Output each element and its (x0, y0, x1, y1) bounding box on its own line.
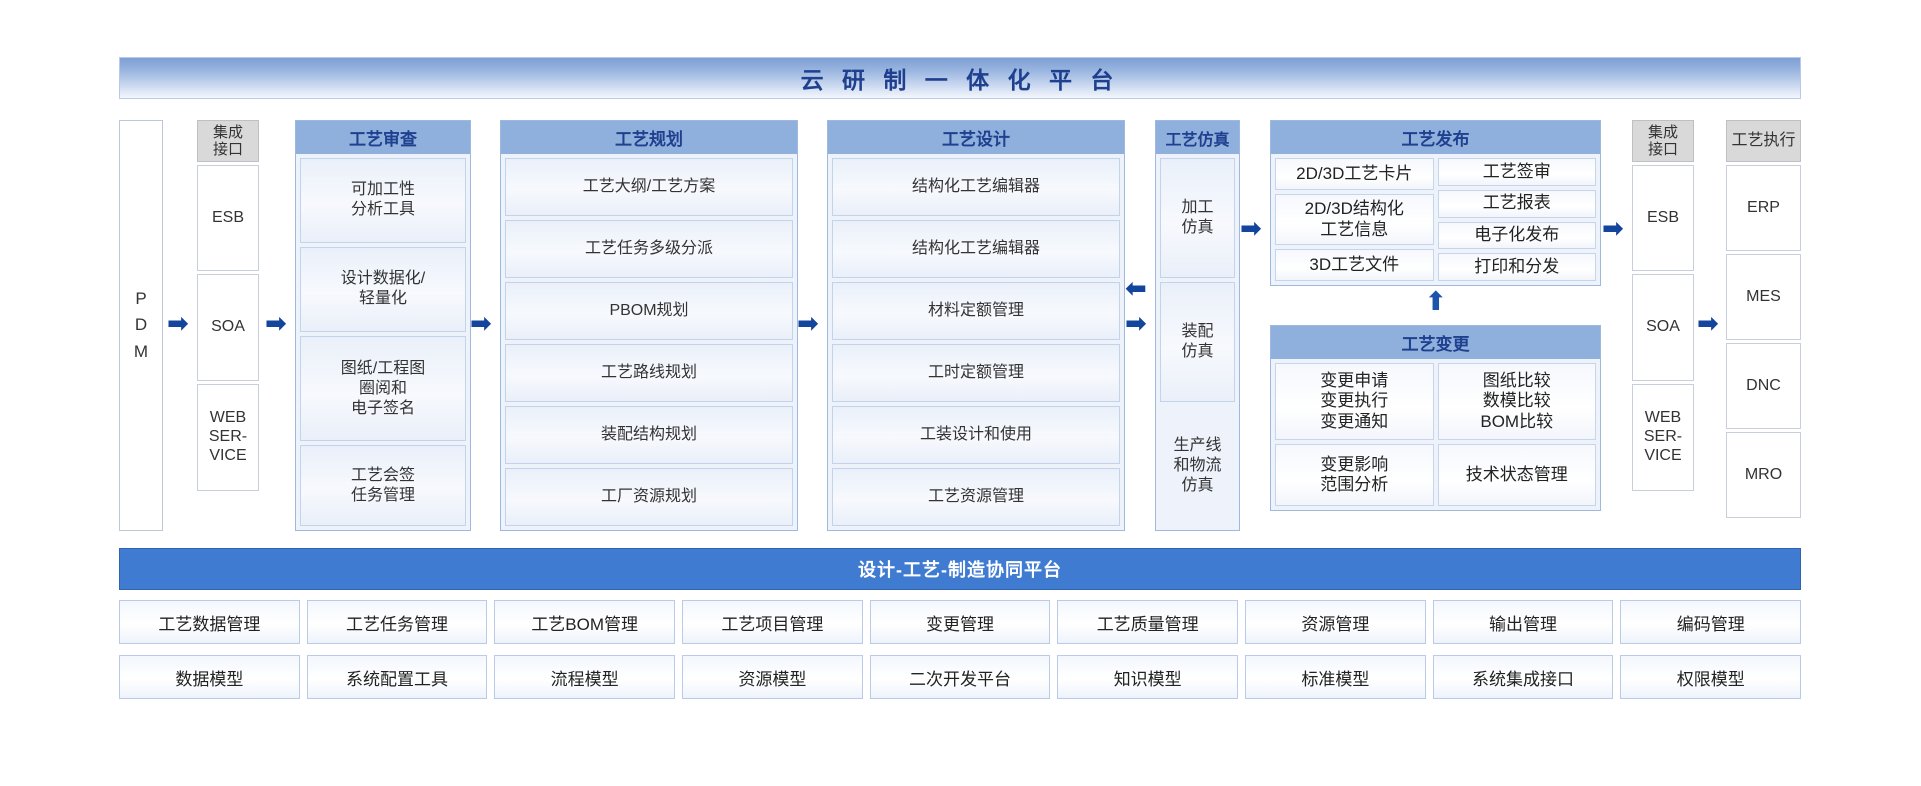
panel-process-publish: 工艺发布 2D/3D工艺卡片 2D/3D结构化工艺信息 3D工艺文件 工艺签审 … (1270, 120, 1601, 286)
model-cell[interactable]: 流程模型 (494, 655, 675, 699)
planning-item-1[interactable]: 工艺任务多级分派 (505, 220, 793, 278)
module-cell[interactable]: 工艺项目管理 (682, 600, 863, 644)
arrow-left-icon: ⬅ (1125, 275, 1147, 301)
module-cell[interactable]: 输出管理 (1433, 600, 1614, 644)
page-title: 云 研 制 一 体 化 平 台 (801, 61, 1120, 95)
module-cell[interactable]: 工艺任务管理 (307, 600, 488, 644)
model-cell[interactable]: 数据模型 (119, 655, 300, 699)
panel-process-review: 工艺审查 可加工性分析工具 设计数据化/轻量化 图纸/工程图圈阅和电子签名 工艺… (295, 120, 471, 531)
arrow-up-icon: ⬆ (1425, 288, 1447, 314)
model-cell[interactable]: 知识模型 (1057, 655, 1238, 699)
platform-modules-row-2: 数据模型 系统配置工具 流程模型 资源模型 二次开发平台 知识模型 标准模型 系… (119, 655, 1801, 699)
collaboration-platform-title: 设计-工艺-制造协同平台 (858, 556, 1062, 582)
pdm-column: PDM (119, 120, 163, 531)
execution-cell-mro: MRO (1726, 432, 1801, 518)
publish-right-1[interactable]: 工艺报表 (1438, 190, 1597, 218)
left-integration-cell-soa: SOA (197, 274, 259, 381)
panel-process-publish-header: 工艺发布 (1271, 121, 1600, 154)
design-item-5[interactable]: 工艺资源管理 (832, 468, 1120, 526)
panel-process-simulation: 工艺仿真 加工仿真 装配仿真 生产线和物流仿真 (1155, 120, 1240, 531)
publish-right-2[interactable]: 电子化发布 (1438, 222, 1597, 250)
panel-process-design-header: 工艺设计 (828, 121, 1124, 154)
publish-left-1[interactable]: 2D/3D结构化工艺信息 (1275, 194, 1434, 244)
collaboration-platform-bar: 设计-工艺-制造协同平台 (119, 548, 1801, 590)
review-item-1[interactable]: 设计数据化/轻量化 (300, 247, 466, 332)
model-cell[interactable]: 权限模型 (1620, 655, 1801, 699)
publish-left-2[interactable]: 3D工艺文件 (1275, 249, 1434, 281)
module-cell[interactable]: 变更管理 (870, 600, 1051, 644)
right-integration-cell-esb: ESB (1632, 165, 1694, 271)
right-integration-header: 集成接口 (1632, 120, 1694, 162)
arrow-right-icon: ➡ (797, 310, 819, 336)
diagram-canvas: 云 研 制 一 体 化 平 台 PDM ➡ 集成接口 ESB SOA WEBSE… (0, 0, 1921, 786)
model-cell[interactable]: 系统配置工具 (307, 655, 488, 699)
panel-process-review-header: 工艺审查 (296, 121, 470, 154)
main-flow-row: PDM ➡ 集成接口 ESB SOA WEBSER-VICE ➡ 工艺审查 可加… (119, 120, 1801, 531)
left-integration-column: 集成接口 ESB SOA WEBSER-VICE (197, 120, 259, 491)
change-right-0[interactable]: 图纸比较数模比较BOM比较 (1438, 363, 1597, 440)
execution-cell-dnc: DNC (1726, 343, 1801, 429)
process-execution-column: 工艺执行 ERP MES DNC MRO (1726, 120, 1801, 518)
arrow-right-icon: ➡ (167, 310, 189, 336)
change-left-1[interactable]: 变更影响范围分析 (1275, 444, 1434, 506)
process-execution-header: 工艺执行 (1726, 120, 1801, 162)
model-cell[interactable]: 资源模型 (682, 655, 863, 699)
panel-process-change: 工艺变更 变更申请变更执行变更通知 变更影响范围分析 图纸比较数模比较BOM比较… (1270, 325, 1601, 511)
model-cell[interactable]: 标准模型 (1245, 655, 1426, 699)
design-item-3[interactable]: 工时定额管理 (832, 344, 1120, 402)
platform-modules-row-1: 工艺数据管理 工艺任务管理 工艺BOM管理 工艺项目管理 变更管理 工艺质量管理… (119, 600, 1801, 644)
planning-item-0[interactable]: 工艺大纲/工艺方案 (505, 158, 793, 216)
execution-cell-erp: ERP (1726, 165, 1801, 251)
arrow-right-icon: ➡ (1697, 310, 1719, 336)
simulation-item-0[interactable]: 加工仿真 (1160, 158, 1235, 278)
left-integration-cell-webservice: WEBSER-VICE (197, 384, 259, 491)
design-item-2[interactable]: 材料定额管理 (832, 282, 1120, 340)
model-cell[interactable]: 系统集成接口 (1433, 655, 1614, 699)
publish-right-3[interactable]: 打印和分发 (1438, 253, 1597, 281)
module-cell[interactable]: 工艺质量管理 (1057, 600, 1238, 644)
module-cell[interactable]: 编码管理 (1620, 600, 1801, 644)
arrow-right-icon: ➡ (1125, 310, 1147, 336)
publish-left-0[interactable]: 2D/3D工艺卡片 (1275, 158, 1434, 190)
design-item-1[interactable]: 结构化工艺编辑器 (832, 220, 1120, 278)
planning-item-4[interactable]: 装配结构规划 (505, 406, 793, 464)
panel-process-planning: 工艺规划 工艺大纲/工艺方案 工艺任务多级分派 PBOM规划 工艺路线规划 装配… (500, 120, 798, 531)
planning-item-5[interactable]: 工厂资源规划 (505, 468, 793, 526)
change-right-1[interactable]: 技术状态管理 (1438, 444, 1597, 506)
publish-right-0[interactable]: 工艺签审 (1438, 158, 1597, 186)
review-item-3[interactable]: 工艺会签任务管理 (300, 445, 466, 526)
simulation-item-1[interactable]: 装配仿真 (1160, 282, 1235, 402)
planning-item-3[interactable]: 工艺路线规划 (505, 344, 793, 402)
module-cell[interactable]: 资源管理 (1245, 600, 1426, 644)
left-integration-header: 集成接口 (197, 120, 259, 162)
design-item-4[interactable]: 工装设计和使用 (832, 406, 1120, 464)
planning-item-2[interactable]: PBOM规划 (505, 282, 793, 340)
review-item-2[interactable]: 图纸/工程图圈阅和电子签名 (300, 336, 466, 442)
design-item-0[interactable]: 结构化工艺编辑器 (832, 158, 1120, 216)
platform-title-bar: 云 研 制 一 体 化 平 台 (119, 57, 1801, 99)
arrow-right-icon: ➡ (1240, 215, 1262, 241)
arrow-right-icon: ➡ (470, 310, 492, 336)
pdm-label: PDM (134, 286, 148, 365)
right-integration-cell-webservice: WEBSER-VICE (1632, 384, 1694, 491)
panel-process-simulation-header: 工艺仿真 (1156, 121, 1239, 154)
module-cell[interactable]: 工艺数据管理 (119, 600, 300, 644)
panel-process-planning-header: 工艺规划 (501, 121, 797, 154)
arrow-right-icon: ➡ (265, 310, 287, 336)
panel-process-design: 工艺设计 结构化工艺编辑器 结构化工艺编辑器 材料定额管理 工时定额管理 工装设… (827, 120, 1125, 531)
right-integration-column: 集成接口 ESB SOA WEBSER-VICE (1632, 120, 1694, 491)
simulation-item-2[interactable]: 生产线和物流仿真 (1160, 406, 1235, 526)
module-cell[interactable]: 工艺BOM管理 (494, 600, 675, 644)
panel-process-change-header: 工艺变更 (1271, 326, 1600, 359)
model-cell[interactable]: 二次开发平台 (870, 655, 1051, 699)
review-item-0[interactable]: 可加工性分析工具 (300, 158, 466, 243)
change-left-0[interactable]: 变更申请变更执行变更通知 (1275, 363, 1434, 440)
right-integration-cell-soa: SOA (1632, 274, 1694, 381)
execution-cell-mes: MES (1726, 254, 1801, 340)
left-integration-cell-esb: ESB (197, 165, 259, 271)
arrow-right-icon: ➡ (1602, 215, 1624, 241)
